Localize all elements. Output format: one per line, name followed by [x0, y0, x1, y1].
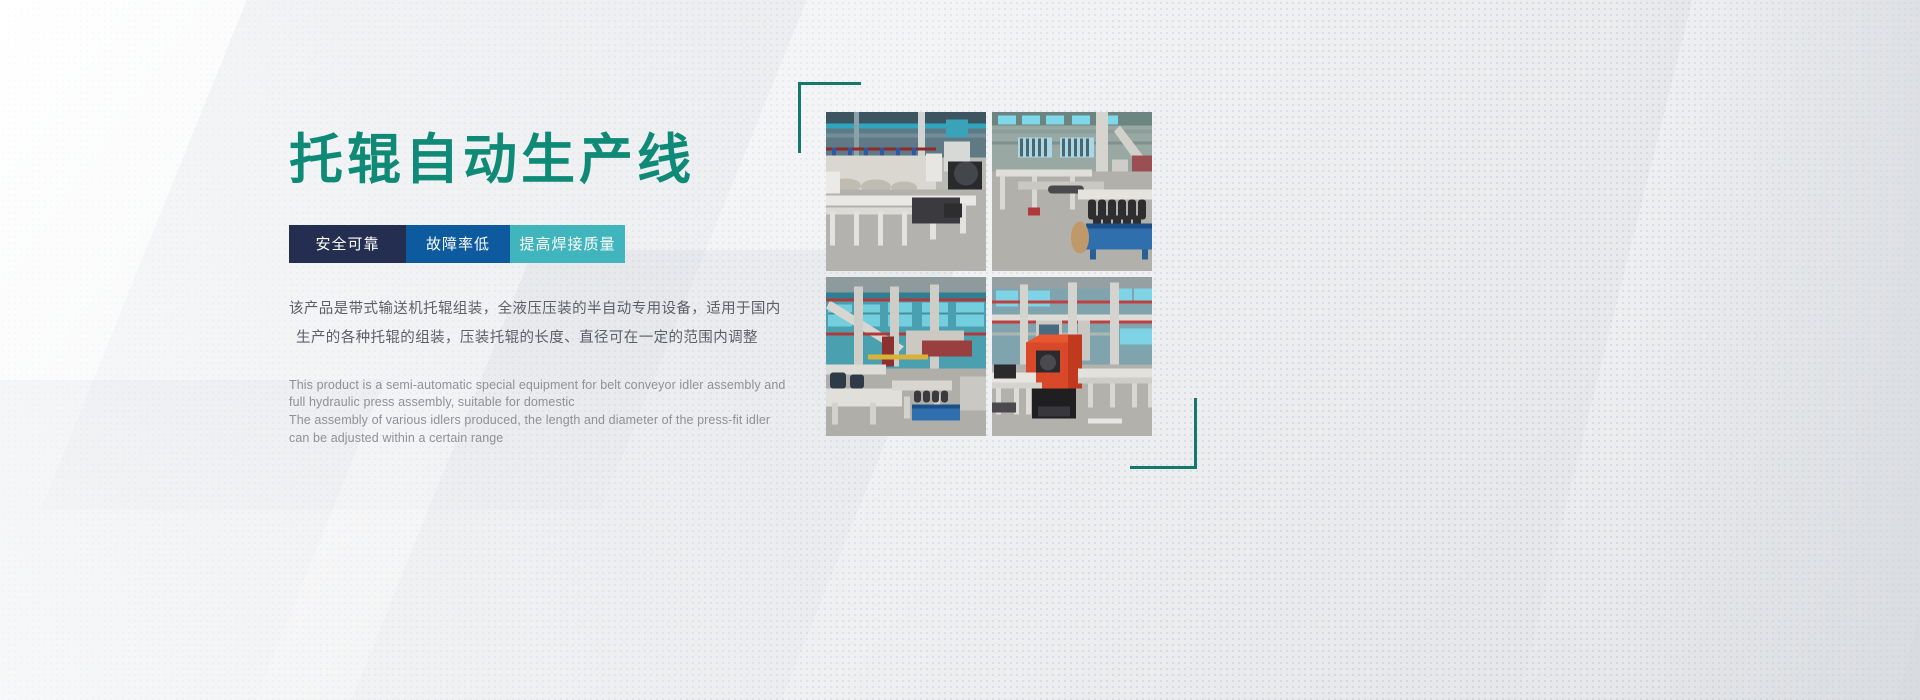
gallery-zone [798, 82, 1194, 466]
factory-photo-red-press-machine[interactable] [992, 277, 1152, 436]
product-banner: 托辊自动生产线 安全可靠 故障率低 提高焊接质量 该产品是带式输送机托辊组装，全… [0, 0, 1920, 700]
background-polygon-4 [1488, 0, 1920, 700]
feature-tag-safety[interactable]: 安全可靠 [289, 225, 406, 263]
feature-tag-weld-quality[interactable]: 提高焊接质量 [510, 225, 625, 263]
factory-photo-workshop-interior[interactable] [826, 277, 986, 436]
factory-photo-idler-workbench[interactable] [992, 112, 1152, 271]
photo-grid [826, 112, 1152, 436]
background-edge-fade [1620, 0, 1920, 700]
feature-tag-low-failure[interactable]: 故障率低 [406, 225, 510, 263]
factory-photo-conveyor-line[interactable] [826, 112, 986, 271]
